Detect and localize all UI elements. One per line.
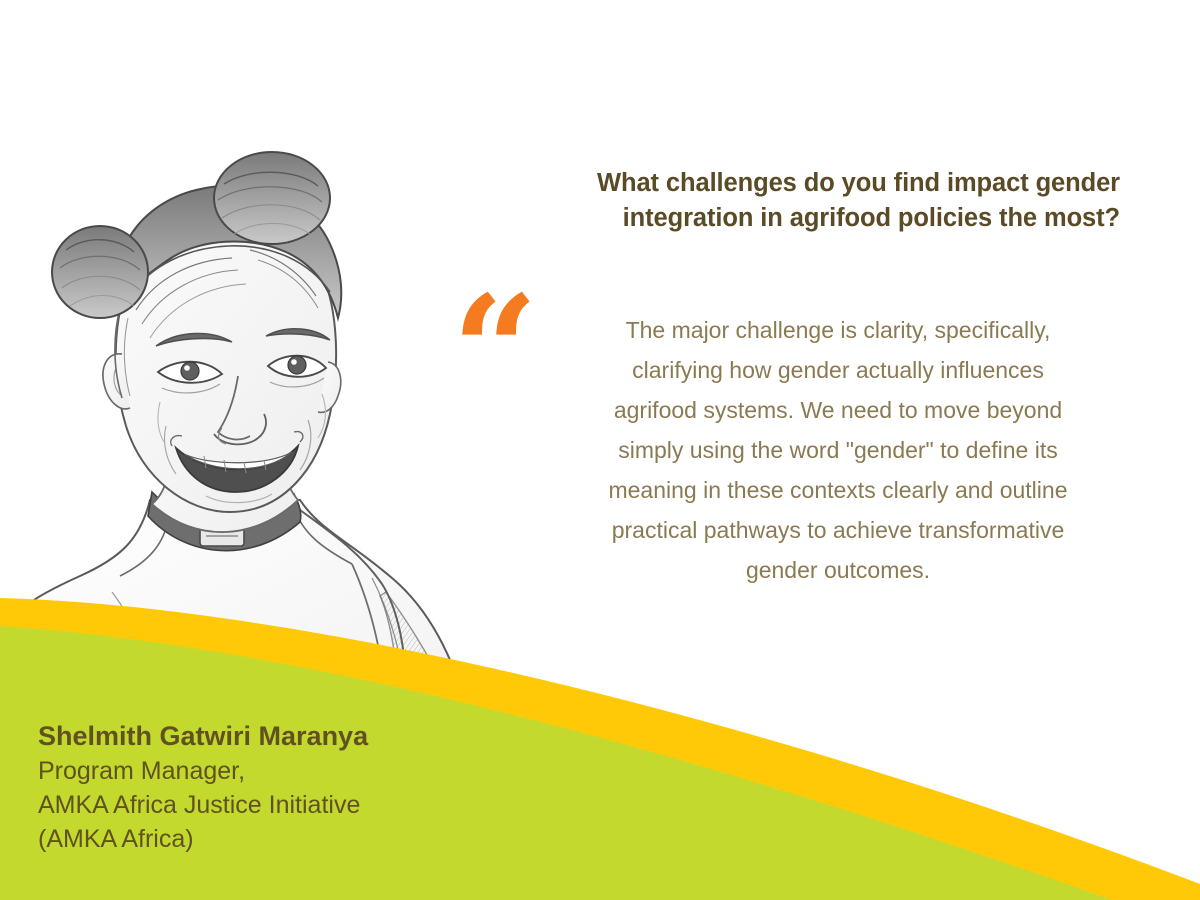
quote-line-5: meaning in these contexts clearly and ou… [556, 470, 1120, 510]
speaker-organization: AMKA Africa Justice Initiative [38, 788, 658, 822]
speaker-name: Shelmith Gatwiri Maranya [38, 718, 658, 754]
portrait-illustration [0, 140, 530, 720]
question-heading: What challenges do you find impact gende… [480, 166, 1120, 236]
quote-line-3: agrifood systems. We need to move beyond [556, 390, 1120, 430]
question-line-1: What challenges do you find impact gende… [480, 166, 1120, 201]
question-line-2: integration in agrifood policies the mos… [480, 201, 1120, 236]
portrait-sketch-icon [0, 140, 530, 720]
quote-text: The major challenge is clarity, specific… [556, 310, 1120, 590]
quote-line-1: The major challenge is clarity, specific… [556, 310, 1120, 350]
quote-line-2: clarifying how gender actually influence… [556, 350, 1120, 390]
speaker-role: Program Manager, [38, 754, 658, 788]
quote-line-6: practical pathways to achieve transforma… [556, 510, 1120, 550]
quote-open-icon: “ [452, 276, 538, 426]
quote-line-4: simply using the word "gender" to define… [556, 430, 1120, 470]
quote-line-7: gender outcomes. [556, 550, 1120, 590]
speaker-organization-short: (AMKA Africa) [38, 822, 658, 856]
quote-slide: What challenges do you find impact gende… [0, 0, 1200, 900]
attribution-block: Shelmith Gatwiri Maranya Program Manager… [38, 718, 658, 856]
